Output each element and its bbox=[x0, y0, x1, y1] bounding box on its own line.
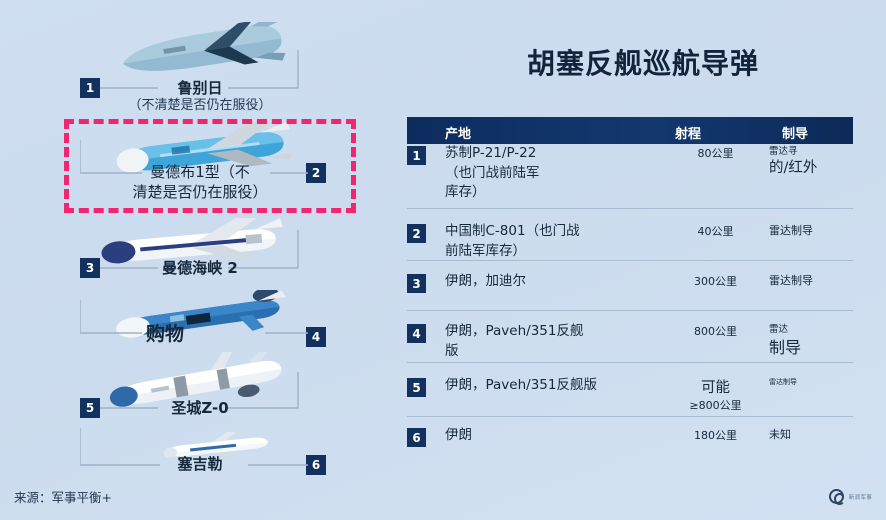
cell-range: 80公里 bbox=[663, 146, 768, 161]
cell-range: 300公里 bbox=[663, 274, 768, 289]
cell-range: 40公里 bbox=[663, 224, 768, 239]
cell-guidance: 雷达制导 bbox=[769, 224, 853, 239]
page-title: 胡塞反舰巡航导弹 bbox=[400, 42, 886, 82]
row-number-badge: 1 bbox=[407, 146, 426, 165]
highlight-box-missile-2 bbox=[64, 119, 356, 213]
row-number-badge: 6 bbox=[407, 428, 426, 447]
missile-note-1: （不清楚是否仍在服役） bbox=[85, 98, 315, 114]
missile-name-4: 购物 bbox=[85, 323, 245, 347]
row-divider bbox=[407, 260, 853, 261]
cell-origin: 中国制C-801（也门战前陆军库存） bbox=[445, 222, 660, 261]
row-number-badge: 3 bbox=[407, 274, 426, 293]
missile-name-6: 塞吉勒 bbox=[85, 455, 315, 474]
missile-illustration-panel: 1 鲁别日 （不清楚是否仍在服役） 2 曼 bbox=[0, 0, 400, 490]
cell-origin: 伊朗，Paveh/351反舰版 bbox=[445, 376, 660, 396]
cell-origin: 伊朗，加迪尔 bbox=[445, 272, 660, 292]
cell-origin: 伊朗，Paveh/351反舰版 bbox=[445, 322, 660, 361]
cell-range: 180公里 bbox=[663, 428, 768, 443]
row-divider bbox=[407, 208, 853, 209]
missile-art-1 bbox=[104, 22, 289, 80]
row-divider bbox=[407, 310, 853, 311]
missile-name-3: 曼德海峡 2 bbox=[85, 259, 315, 278]
column-header-guidance: 制导 bbox=[782, 123, 808, 142]
column-header-range: 射程 bbox=[675, 123, 701, 142]
missile-name-5: 圣城Z-0 bbox=[85, 399, 315, 418]
cell-range: 可能≥800公里 bbox=[663, 378, 768, 414]
missile-badge-4: 4 bbox=[306, 327, 326, 347]
column-header-origin: 产地 bbox=[445, 123, 471, 142]
brand-logo: 新浪军事 bbox=[829, 489, 872, 504]
cell-guidance: 雷达制导 bbox=[769, 378, 853, 387]
data-table-panel: 胡塞反舰巡航导弹 产地 射程 制导 1苏制P-21/P-22（也门战前陆军库存）… bbox=[400, 0, 886, 520]
row-number-badge: 4 bbox=[407, 324, 426, 343]
brand-name: 新浪军事 bbox=[849, 493, 872, 501]
cell-range: 800公里 bbox=[663, 324, 768, 339]
cell-origin: 苏制P-21/P-22（也门战前陆军库存） bbox=[445, 144, 660, 203]
row-divider bbox=[407, 416, 853, 417]
source-note: 来源：军事平衡+ bbox=[14, 487, 112, 506]
row-divider bbox=[407, 362, 853, 363]
row-number-badge: 5 bbox=[407, 378, 426, 397]
logo-mark-icon bbox=[829, 489, 844, 504]
cell-origin: 伊朗 bbox=[445, 426, 660, 446]
missile-name-1: 鲁别日 bbox=[85, 79, 315, 98]
cell-guidance: 雷达制导 bbox=[769, 324, 853, 358]
cell-guidance: 未知 bbox=[769, 428, 853, 443]
cell-guidance: 雷达寻的/红外 bbox=[769, 146, 853, 178]
table-header-row: 产地 射程 制导 bbox=[407, 117, 853, 144]
cell-guidance: 雷达制导 bbox=[769, 274, 853, 289]
row-number-badge: 2 bbox=[407, 224, 426, 243]
